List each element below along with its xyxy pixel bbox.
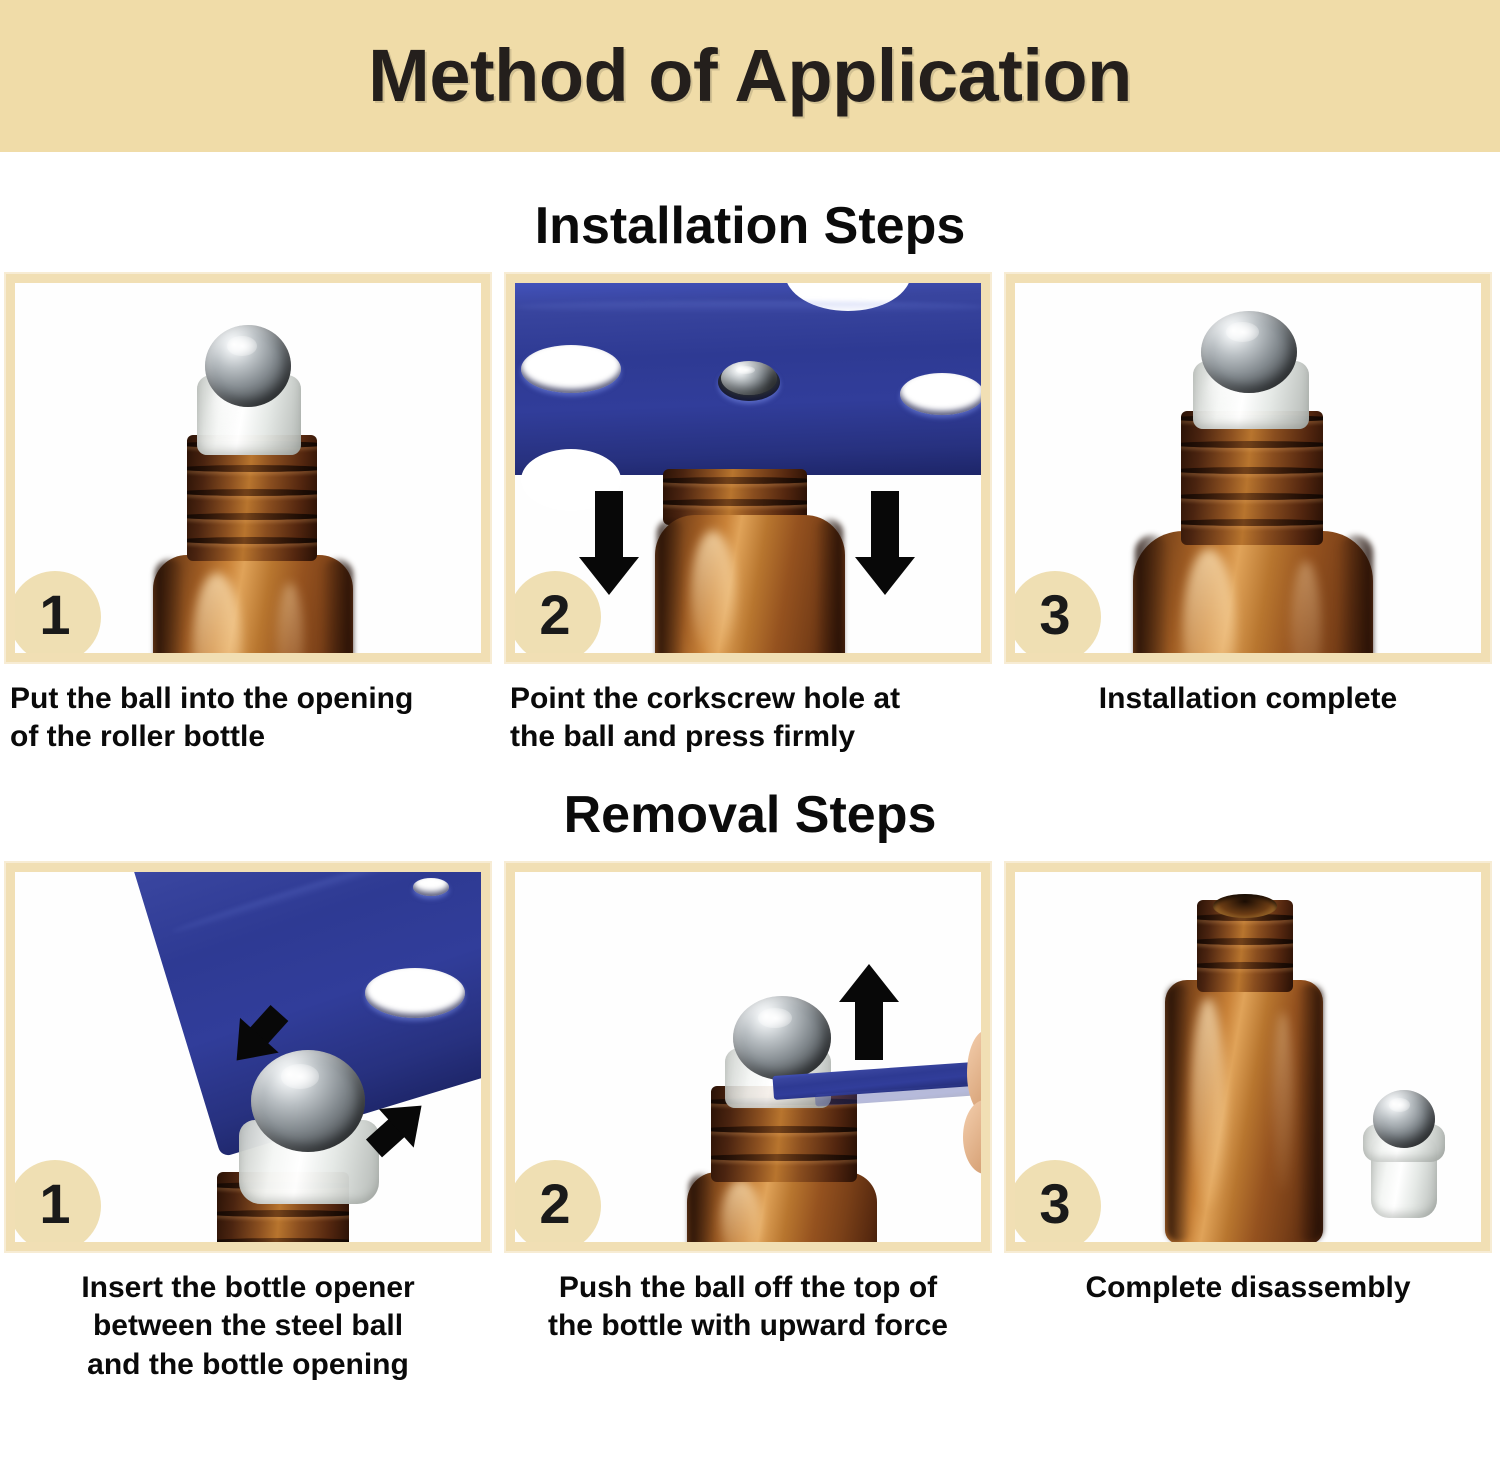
illustration-opener-inserted-under-ball: 1 — [15, 872, 481, 1242]
neck-thread — [1197, 938, 1293, 945]
lift-up-arrow — [839, 964, 899, 1062]
opener-surface-ridge — [515, 301, 981, 313]
neck-thread — [1181, 441, 1323, 448]
step-caption: Installation complete — [1006, 680, 1490, 718]
neck-thread — [217, 1210, 349, 1217]
steel-roller-ball — [721, 361, 777, 395]
step-number-badge: 3 — [1015, 1160, 1101, 1242]
removal-steps-row: 1 Insert the bottle opener between the s… — [0, 863, 1500, 1384]
step-caption: Push the ball off the top of the bottle … — [506, 1269, 990, 1346]
neck-thread — [1197, 962, 1293, 969]
step-card-install-2: 2 Point the corkscrew hole at the ball a… — [506, 274, 990, 757]
bottle-shadow-edge — [657, 519, 685, 653]
page-header-banner: Method of Application — [0, 0, 1500, 152]
illustration-bottle-and-ball-separated: 3 — [1015, 872, 1481, 1242]
section-heading-removal: Removal Steps — [0, 789, 1500, 841]
neck-thread — [1181, 519, 1323, 526]
illustration-ball-levered-up: 2 — [515, 872, 981, 1242]
step-caption: Complete disassembly — [1006, 1269, 1490, 1307]
illustration-opener-pressing-down: 2 — [515, 283, 981, 653]
step-number-badge: 1 — [15, 571, 101, 653]
neck-thread — [663, 477, 807, 484]
page-title: Method of Application — [368, 39, 1132, 113]
step-caption: Put the ball into the opening of the rol… — [6, 680, 490, 757]
step-card-removal-3: 3 Complete disassembly — [1006, 863, 1490, 1384]
opener-hole-left — [521, 345, 621, 393]
opener-hole-small — [413, 878, 449, 896]
arrow-head — [855, 557, 915, 595]
step-caption: Point the corkscrew hole at the ball and… — [506, 680, 990, 757]
bottle-shadow-edge — [689, 1174, 715, 1242]
illustration-bottle-with-ball-seated: 1 — [15, 283, 481, 653]
bottle-shadow-edge — [155, 559, 185, 653]
step-number: 3 — [1039, 587, 1070, 643]
step-number: 2 — [539, 1176, 570, 1232]
step-image-frame: 2 — [506, 863, 990, 1251]
step-image-frame: 3 — [1006, 863, 1490, 1251]
opener-hole-large — [365, 968, 465, 1018]
bottle-shadow-edge-right — [815, 519, 843, 653]
step-number: 1 — [39, 587, 70, 643]
amber-bottle-body — [687, 1172, 877, 1242]
press-down-arrow-left — [579, 491, 639, 595]
neck-thread — [187, 513, 317, 520]
step-card-removal-1: 1 Insert the bottle opener between the s… — [6, 863, 490, 1384]
step-card-install-3: 3 Installation complete — [1006, 274, 1490, 757]
step-caption: Insert the bottle opener between the ste… — [6, 1269, 490, 1384]
step-image-frame: 3 — [1006, 274, 1490, 662]
bottle-shadow-edge — [1135, 535, 1169, 653]
step-image-frame: 1 — [6, 274, 490, 662]
bottle-shadow-edge-right — [321, 559, 353, 653]
neck-thread — [217, 1238, 349, 1242]
bottle-highlight — [1191, 998, 1225, 1208]
arrow-shaft — [595, 491, 623, 561]
neck-thread — [1181, 493, 1323, 500]
neck-thread — [187, 465, 317, 472]
opener-hole-right — [900, 373, 981, 415]
step-card-removal-2: 2 Push the ball off the top of the bottl… — [506, 863, 990, 1384]
steel-roller-ball — [1201, 311, 1297, 393]
arrow-shaft — [871, 491, 899, 561]
detached-steel-roller-ball — [1373, 1090, 1435, 1148]
step-number: 3 — [1039, 1176, 1070, 1232]
press-down-arrow-right — [855, 491, 915, 595]
step-number: 1 — [39, 1176, 70, 1232]
bottle-shadow-edge — [1167, 984, 1191, 1242]
illustration-bottle-installed: 3 — [1015, 283, 1481, 653]
bottle-open-mouth — [1213, 894, 1277, 918]
installation-steps-row: 1 Put the ball into the opening of the r… — [0, 274, 1500, 757]
bottle-highlight-secondary — [1273, 1012, 1293, 1192]
neck-thread — [711, 1154, 857, 1161]
arrow-head — [839, 964, 899, 1002]
bottle-shadow-edge-right — [1337, 535, 1373, 653]
step-image-frame: 2 — [506, 274, 990, 662]
neck-thread — [711, 1126, 857, 1133]
bottle-shadow-edge-right — [1297, 984, 1323, 1242]
step-number-badge: 3 — [1015, 571, 1101, 653]
bottle-highlight — [691, 531, 735, 653]
steel-roller-ball — [205, 325, 291, 407]
bottle-neck-threads — [1181, 411, 1323, 545]
step-card-install-1: 1 Put the ball into the opening of the r… — [6, 274, 490, 757]
steel-roller-ball — [733, 996, 831, 1080]
neck-thread — [187, 489, 317, 496]
step-number-badge: 2 — [515, 1160, 601, 1242]
arrow-shaft — [855, 1000, 883, 1060]
section-heading-installation: Installation Steps — [0, 200, 1500, 252]
neck-thread — [1181, 467, 1323, 474]
neck-thread — [663, 499, 807, 506]
step-image-frame: 1 — [6, 863, 490, 1251]
hand-finger-lower — [963, 1100, 981, 1174]
step-number-badge: 1 — [15, 1160, 101, 1242]
step-number: 2 — [539, 587, 570, 643]
neck-thread — [187, 537, 317, 544]
